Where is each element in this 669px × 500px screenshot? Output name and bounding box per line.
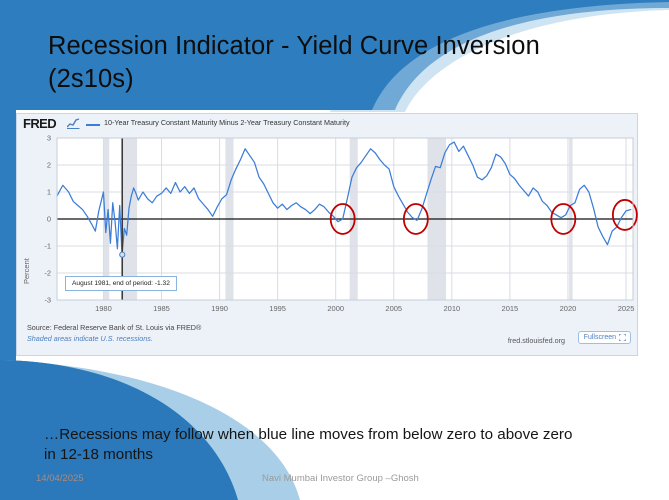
legend-swatch (86, 124, 100, 126)
svg-text:1995: 1995 (269, 304, 286, 313)
slide-date: 14/04/2025 (36, 473, 84, 484)
yield-curve-line-chart: 3210-1-2-3198019851990199520002005201020… (17, 132, 639, 322)
svg-text:0: 0 (47, 215, 51, 224)
svg-text:1980: 1980 (95, 304, 112, 313)
svg-text:2020: 2020 (560, 304, 577, 313)
source-note: Source: Federal Reserve Bank of St. Loui… (27, 323, 201, 332)
page-title: Recession Indicator - Yield Curve Invers… (48, 30, 623, 95)
plot-area: 3210-1-2-3198019851990199520002005201020… (17, 132, 639, 322)
svg-text:2000: 2000 (327, 304, 344, 313)
svg-text:2: 2 (47, 161, 51, 170)
fred-chart-header: FRED 10-Year Treasury Constant Maturity … (17, 114, 637, 132)
fred-mini-chart-icon (67, 118, 80, 129)
slide-caption: …Recessions may follow when blue line mo… (44, 425, 644, 465)
fred-logo: FRED (23, 116, 56, 131)
fullscreen-button[interactable]: Fullscreen (578, 331, 631, 344)
svg-text:2005: 2005 (385, 304, 402, 313)
svg-text:2015: 2015 (502, 304, 519, 313)
slide-footer-note: Navi Mumbai Investor Group –Ghosh (262, 473, 419, 484)
svg-text:2025: 2025 (618, 304, 635, 313)
data-tooltip: August 1981, end of period: -1.32 (65, 276, 177, 291)
svg-text:-2: -2 (44, 269, 51, 278)
fred-url: fred.stlouisfed.org (508, 336, 565, 345)
recession-shading-note[interactable]: Shaded areas indicate U.S. recessions. (27, 334, 153, 343)
svg-text:1: 1 (47, 188, 51, 197)
svg-text:-1: -1 (44, 242, 51, 251)
svg-text:2010: 2010 (443, 304, 460, 313)
legend-label: 10-Year Treasury Constant Maturity Minus… (104, 118, 350, 127)
svg-text:3: 3 (47, 134, 51, 143)
expand-icon (619, 334, 626, 341)
svg-text:1985: 1985 (153, 304, 170, 313)
svg-text:-3: -3 (44, 296, 51, 305)
fullscreen-label: Fullscreen (584, 334, 616, 341)
fred-chart-panel: FRED 10-Year Treasury Constant Maturity … (16, 113, 638, 356)
svg-text:1990: 1990 (211, 304, 228, 313)
slide: Recession Indicator - Yield Curve Invers… (0, 0, 669, 500)
